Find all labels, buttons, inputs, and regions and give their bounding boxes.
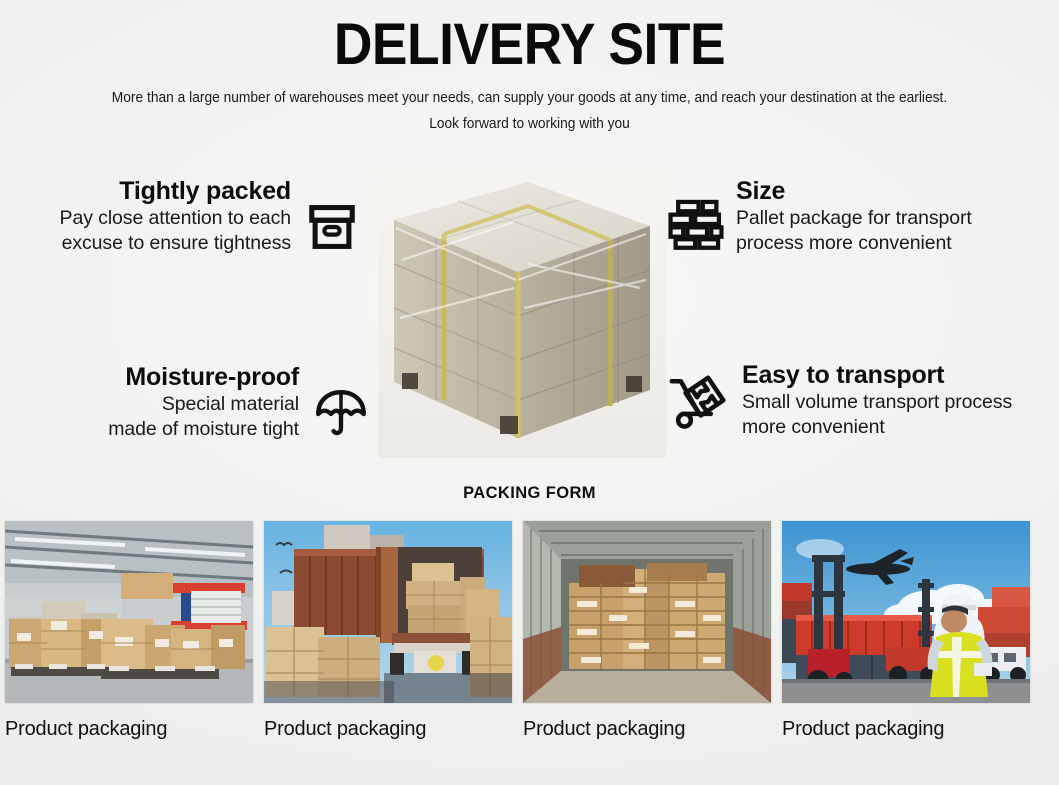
packing-form-gallery: Product packaging	[0, 521, 1059, 741]
gallery-caption: Product packaging	[5, 717, 253, 741]
feature-title: Size	[736, 176, 972, 206]
feature-text-block: Moisture-proof Special material made of …	[108, 362, 299, 442]
container-loading-photo[interactable]	[264, 521, 512, 703]
feature-desc-line-2: process more convenient	[736, 231, 972, 256]
packing-form-label: PACKING FORM	[0, 484, 1059, 503]
gallery-caption: Product packaging	[523, 717, 771, 741]
feature-desc-line-1: Pay close attention to each	[60, 206, 291, 231]
subtitle-line-1: More than a large number of warehouses m…	[26, 85, 1032, 111]
page-header: DELIVERY SITE More than a large number o…	[0, 0, 1059, 137]
feature-desc-line-2: more convenient	[742, 415, 1012, 440]
gallery-caption: Product packaging	[264, 717, 512, 741]
subtitle-line-2: Look forward to working with you	[26, 111, 1032, 137]
gallery-caption: Product packaging	[782, 717, 1030, 741]
umbrella-icon	[313, 386, 369, 442]
warehouse-interior-photo[interactable]	[5, 521, 253, 703]
loaded-container-interior-photo[interactable]	[523, 521, 771, 703]
gallery-item[interactable]: Product packaging	[523, 521, 771, 741]
archive-box-icon	[305, 200, 359, 254]
feature-tightly-packed: Tightly packed Pay close attention to ea…	[60, 176, 359, 256]
feature-title: Moisture-proof	[108, 362, 299, 392]
feature-title: Tightly packed	[60, 176, 291, 206]
feature-desc-line-1: Pallet package for transport	[736, 206, 972, 231]
gallery-item[interactable]: Product packaging	[5, 521, 253, 741]
feature-moisture-proof: Moisture-proof Special material made of …	[108, 362, 369, 442]
port-logistics-photo[interactable]	[782, 521, 1030, 703]
feature-text-block: Tightly packed Pay close attention to ea…	[60, 176, 291, 256]
feature-text-block: Easy to transport Small volume transport…	[742, 360, 1012, 440]
feature-desc-line-2: excuse to ensure tightness	[60, 231, 291, 256]
page-subtitle: More than a large number of warehouses m…	[0, 85, 1059, 137]
feature-text-block: Size Pallet package for transport proces…	[736, 176, 972, 256]
feature-easy-to-transport: Easy to transport Small volume transport…	[668, 360, 1012, 440]
gallery-item[interactable]: Product packaging	[264, 521, 512, 741]
gallery-item[interactable]: Product packaging	[782, 521, 1030, 741]
feature-desc-line-2: made of moisture tight	[108, 417, 299, 442]
page-title: DELIVERY SITE	[42, 14, 1016, 76]
shrink-wrapped-pallet-photo	[378, 168, 666, 458]
feature-title: Easy to transport	[742, 360, 1012, 390]
brick-wall-icon	[668, 198, 724, 250]
feature-desc-line-1: Special material	[108, 392, 299, 417]
feature-desc-line-1: Small volume transport process	[742, 390, 1012, 415]
hand-truck-icon	[668, 374, 730, 432]
feature-size: Size Pallet package for transport proces…	[668, 176, 972, 256]
